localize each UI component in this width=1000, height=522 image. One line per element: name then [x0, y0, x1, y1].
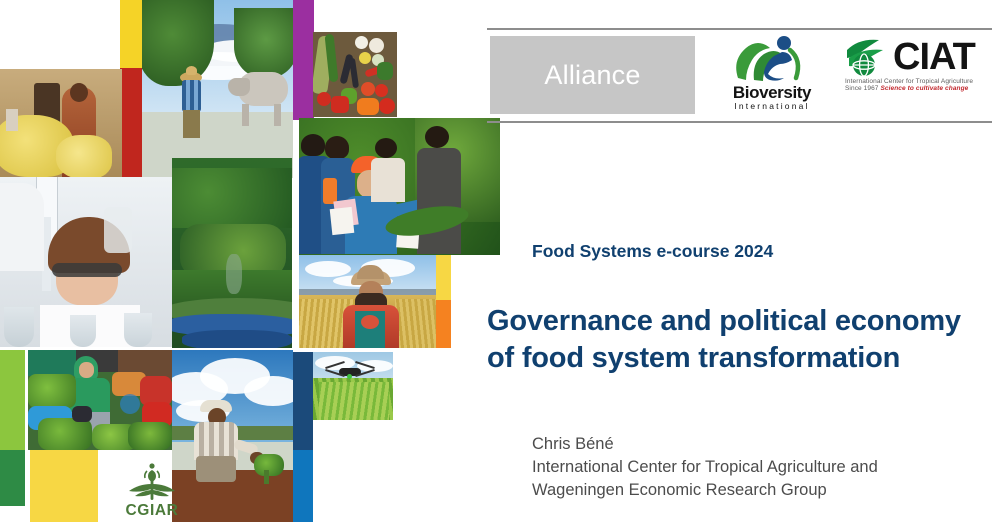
color-block-navy-bar	[293, 352, 313, 450]
alliance-label: Alliance	[544, 60, 640, 91]
bioversity-wordmark: Bioversity	[712, 84, 832, 101]
author-affiliation-1: International Center for Tropical Agricu…	[532, 456, 992, 479]
color-block-light-green	[0, 350, 25, 450]
logo-bar-bottom-rule	[487, 121, 992, 123]
color-block-yellow-bar-top	[120, 0, 142, 68]
ciat-tagline-line1: International Center for Tropical Agricu…	[845, 78, 990, 85]
partner-logo-bar: Alliance Bioversity International	[487, 28, 992, 123]
color-block-red-bar	[120, 68, 142, 178]
photo-lab-scientist	[0, 177, 172, 347]
color-block-purple-bar	[293, 0, 314, 120]
bioversity-mark-icon	[724, 34, 820, 84]
color-block-yellow-bar-mid	[435, 250, 451, 300]
photo-banana-harvest-woman	[0, 69, 122, 177]
color-block-dark-green	[0, 450, 25, 506]
ciat-since: Since 1967	[845, 85, 879, 92]
photo-andean-woman-quinoa	[299, 255, 436, 348]
author-affiliation-2: Wageningen Economic Research Group	[532, 479, 992, 502]
photo-drone-over-rice	[313, 352, 393, 420]
page-title: Governance and political economy of food…	[487, 303, 987, 377]
ciat-tagline-line2: Since 1967 Science to cultivate change	[845, 85, 990, 92]
photo-farmer-cattle-field	[142, 0, 293, 178]
photo-market-vendor	[28, 350, 172, 450]
bioversity-subword: International	[712, 101, 832, 111]
course-kicker: Food Systems e-course 2024	[532, 241, 773, 262]
author-name: Chris Béné	[532, 433, 992, 456]
image-collage: CGIAR	[0, 0, 500, 522]
photo-field-training-group	[299, 118, 500, 255]
color-block-blue-bar	[293, 450, 313, 522]
ciat-logo: CIAT International Center for Tropical A…	[845, 36, 990, 114]
color-block-yellow-low	[30, 450, 98, 522]
alliance-logo-box: Alliance	[490, 36, 695, 114]
photo-vegetable-assortment	[313, 32, 397, 117]
cgiar-wordmark: CGIAR	[104, 502, 200, 520]
page-title-line-1: Governance and political economy	[487, 303, 987, 340]
logo-bar-top-rule	[487, 28, 992, 30]
ciat-slogan: Science to cultivate change	[880, 85, 968, 92]
bioversity-logo: Bioversity International	[712, 34, 832, 116]
ciat-globe-leaf-icon	[845, 36, 891, 78]
color-block-orange-bar	[435, 300, 451, 348]
ciat-wordmark: CIAT	[893, 38, 975, 76]
author-block: Chris Béné International Center for Trop…	[532, 433, 992, 502]
page-title-line-2: of food system transformation	[487, 340, 987, 377]
cgiar-mark-icon	[126, 462, 178, 502]
photo-aerial-river-forest	[172, 158, 292, 348]
presentation-title-slide: CGIAR Alliance Bioversity International	[0, 0, 1000, 522]
cgiar-logo: CGIAR	[104, 462, 200, 522]
